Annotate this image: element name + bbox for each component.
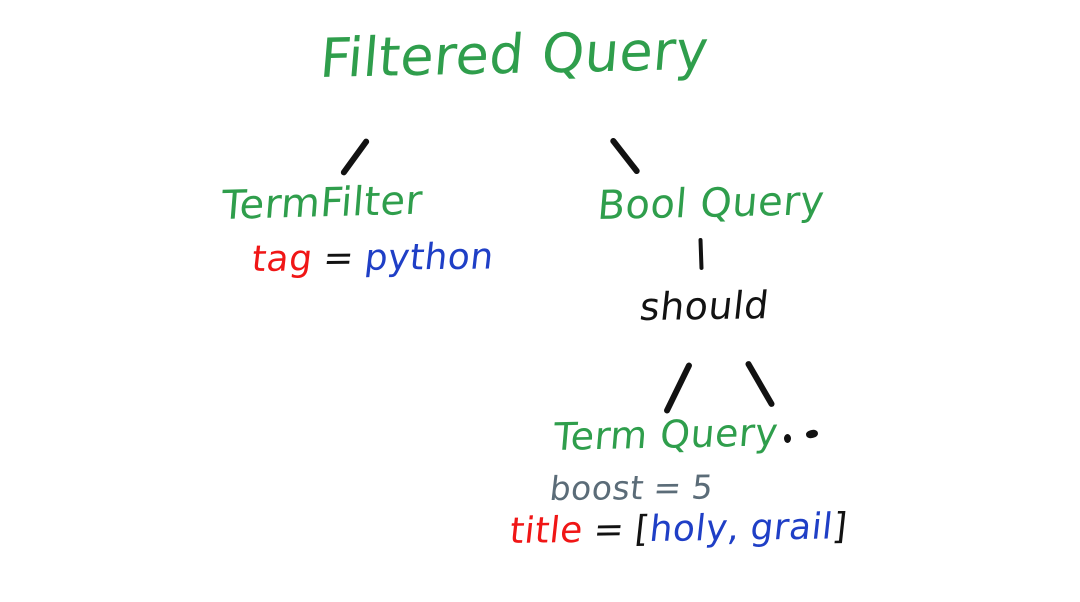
diagram-canvas: Filtered Query TermFilter tag=python Boo… [0,0,1080,602]
bracket-close: ] [831,506,850,547]
term-query-field-title: title [508,510,585,552]
term-filter-field-tag: tag [250,238,315,280]
node-should-clause: should [638,286,771,326]
edge-should-to-term-query [663,362,693,415]
node-filtered-query: Filtered Query [318,24,711,86]
edge-bool-query-to-should [698,238,703,270]
ellipsis-dot-icon [805,429,818,439]
edge-should-to-more-clauses [744,360,775,408]
term-query-boost-equals: = [652,468,685,507]
term-query-title-value-grail: grail [748,506,835,548]
edge-filtered-query-to-term-filter [340,137,371,176]
term-filter-attributes: tag=python [250,239,496,278]
term-query-title-value-holy: holy [647,508,730,550]
node-bool-query: Bool Query [596,181,826,226]
term-query-field-boost: boost [548,468,646,508]
edge-filtered-query-to-bool-query [609,137,641,175]
term-query-boost-attribute: boost=5 [548,471,715,505]
node-term-filter: TermFilter [220,181,424,226]
node-term-query: Term Query [552,413,780,456]
term-query-title-equals: = [591,509,626,550]
term-filter-value-python: python [363,236,497,278]
term-query-boost-value: 5 [690,468,716,507]
ellipsis-dot-icon [784,434,791,443]
term-query-title-attribute: title=[holy,grail] [508,509,849,550]
term-filter-equals: = [321,238,356,279]
